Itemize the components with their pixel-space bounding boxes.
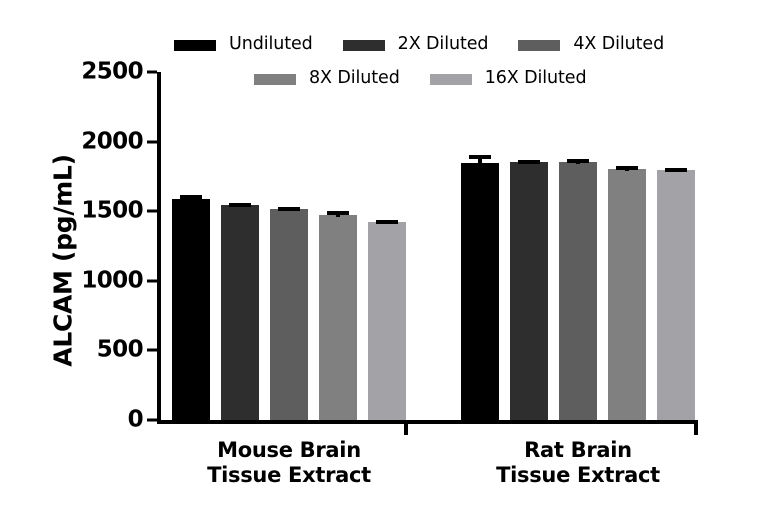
- bar: [559, 162, 597, 420]
- error-bar-cap: [518, 160, 540, 164]
- error-bar-cap: [469, 155, 491, 159]
- bar: [657, 170, 695, 420]
- y-axis-tick-label: 1000: [79, 269, 143, 292]
- x-axis-group-label: Mouse BrainTissue Extract: [159, 438, 419, 488]
- error-bar-cap: [376, 220, 398, 224]
- plot-area: ALCAM (pg/mL) 05001000150020002500Mouse …: [0, 0, 768, 518]
- chart-figure: Undiluted2X Diluted4X Diluted 8X Diluted…: [0, 0, 768, 518]
- error-bar-cap: [327, 211, 349, 215]
- y-axis-tick-mark: [147, 210, 157, 213]
- y-axis-tick-label: 2500: [79, 61, 143, 84]
- y-axis-tick-mark: [147, 140, 157, 143]
- y-axis-tick-mark: [147, 71, 157, 74]
- x-axis-group-label-line: Tissue Extract: [448, 463, 708, 488]
- bar: [510, 162, 548, 420]
- error-bar-cap: [665, 168, 687, 172]
- error-bar-cap: [180, 195, 202, 199]
- x-axis-group-tick: [694, 424, 698, 435]
- bar: [608, 169, 646, 420]
- x-axis-line: [157, 420, 698, 424]
- bar: [319, 215, 357, 420]
- error-bar-cap: [229, 203, 251, 207]
- y-axis-title: ALCAM (pg/mL): [49, 106, 78, 416]
- bar: [221, 205, 259, 420]
- error-bar-cap: [616, 166, 638, 170]
- bar: [461, 163, 499, 420]
- y-axis-tick-label: 500: [79, 339, 143, 362]
- x-axis-group-label-line: Mouse Brain: [159, 438, 419, 463]
- bar: [368, 222, 406, 420]
- bar: [270, 209, 308, 420]
- y-axis-tick-mark: [147, 419, 157, 422]
- x-axis-group-label-line: Tissue Extract: [159, 463, 419, 488]
- x-axis-group-label: Rat BrainTissue Extract: [448, 438, 708, 488]
- y-axis-tick-label: 0: [79, 409, 143, 432]
- x-axis-group-label-line: Rat Brain: [448, 438, 708, 463]
- y-axis-tick-mark: [147, 279, 157, 282]
- y-axis-line: [157, 72, 161, 424]
- bar: [172, 199, 210, 420]
- error-bar-cap: [567, 159, 589, 163]
- x-axis-group-tick: [404, 424, 408, 435]
- error-bar-cap: [278, 207, 300, 211]
- y-axis-tick-mark: [147, 349, 157, 352]
- y-axis-tick-label: 2000: [79, 130, 143, 153]
- y-axis-tick-label: 1500: [79, 200, 143, 223]
